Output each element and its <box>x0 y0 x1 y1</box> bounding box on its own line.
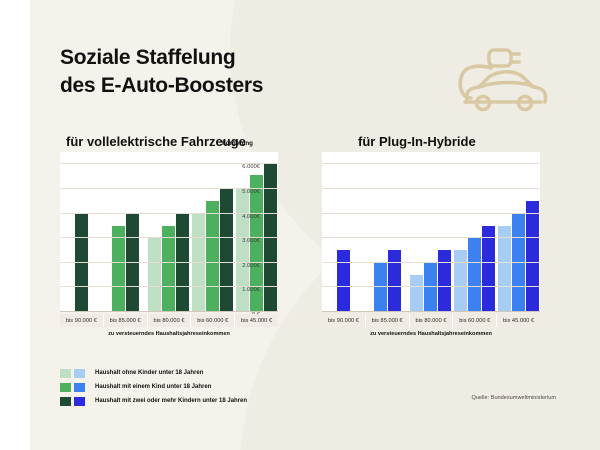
gridline <box>322 311 540 312</box>
bar <box>482 226 495 312</box>
infographic-canvas: Soziale Staffelung des E-Auto-Boosters f… <box>0 0 600 450</box>
x-axis-category-label: bis 60.000 € <box>453 314 497 327</box>
legend-swatch-green <box>60 397 71 406</box>
gridline <box>322 237 540 238</box>
legend-item: Haushalt mit einem Kind unter 18 Jahren <box>60 380 247 394</box>
bar-group <box>60 152 104 312</box>
legend-label: Haushalt mit zwei oder mehr Kindern unte… <box>95 398 247 404</box>
source-note: Quelle: Bundesumweltministerium <box>471 395 556 401</box>
legend-item: Haushalt ohne Kinder unter 18 Jahren <box>60 366 247 380</box>
bar <box>498 226 511 312</box>
x-axis-category-label: bis 80.000 € <box>148 314 192 327</box>
bar-group <box>366 152 410 312</box>
x-axis-category-label: bis 45.000 € <box>497 314 540 327</box>
x-axis-title-electric: zu versteuerndes Haushaltsjahreseinkomme… <box>60 331 278 337</box>
legend: Haushalt ohne Kinder unter 18 JahrenHaus… <box>60 366 247 408</box>
legend-swatch-green <box>60 369 71 378</box>
chart-panel-hybrid <box>322 152 540 312</box>
x-axis-category-label: bis 85.000 € <box>104 314 148 327</box>
gridline <box>322 188 540 189</box>
bar <box>162 226 175 312</box>
left-white-band <box>0 0 30 450</box>
x-axis-category-label: bis 90.000 € <box>322 314 366 327</box>
gridline <box>322 163 540 164</box>
page-title: Soziale Staffelung des E-Auto-Boosters <box>60 44 263 99</box>
x-axis-title-hybrid: zu versteuerndes Haushaltsjahreseinkomme… <box>322 331 540 337</box>
legend-swatch-blue <box>74 369 85 378</box>
legend-swatch-blue <box>74 383 85 392</box>
x-axis-category-label: bis 85.000 € <box>366 314 410 327</box>
legend-swatch-green <box>60 383 71 392</box>
y-axis-title: Förderung <box>222 140 253 147</box>
x-axis-category-label: bis 45.000 € <box>235 314 278 327</box>
legend-label: Haushalt ohne Kinder unter 18 Jahren <box>95 370 203 376</box>
gridline <box>322 213 540 214</box>
x-axis-categories-hybrid: bis 90.000 €bis 85.000 €bis 80.000 €bis … <box>322 314 540 327</box>
bar <box>112 226 125 312</box>
bar <box>424 263 437 312</box>
chart-title-hybrid: für Plug-In-Hybride <box>358 134 476 149</box>
charts-plot-area <box>60 152 540 312</box>
bar <box>374 263 387 312</box>
bar <box>438 250 451 312</box>
bar-group <box>104 152 148 312</box>
bar <box>410 275 423 312</box>
x-axis-category-label: bis 60.000 € <box>191 314 235 327</box>
legend-swatch-blue <box>74 397 85 406</box>
bar-group <box>453 152 497 312</box>
legend-label: Haushalt mit einem Kind unter 18 Jahren <box>95 384 211 390</box>
x-axis-categories-electric: bis 90.000 €bis 85.000 €bis 80.000 €bis … <box>60 314 278 327</box>
bar <box>526 201 539 312</box>
x-axis-category-label: bis 90.000 € <box>60 314 104 327</box>
bar <box>468 238 481 312</box>
bar <box>454 250 467 312</box>
bar-group <box>496 152 540 312</box>
electric-car-plug-icon <box>451 42 555 114</box>
bar-group <box>147 152 191 312</box>
legend-item: Haushalt mit zwei oder mehr Kindern unte… <box>60 394 247 408</box>
bar <box>337 250 350 312</box>
bar-group <box>322 152 366 312</box>
bar <box>148 238 161 312</box>
x-axis-category-label: bis 80.000 € <box>410 314 454 327</box>
bar <box>264 164 277 312</box>
chart-title-electric: für vollelektrische Fahrzeuge <box>66 134 246 149</box>
y-axis: 6.000€5.000€4.000€3.000€2.000€1.000€0 € <box>218 152 264 312</box>
bar <box>388 250 401 312</box>
gridline <box>322 262 540 263</box>
gridline <box>322 286 540 287</box>
bar-group <box>409 152 453 312</box>
